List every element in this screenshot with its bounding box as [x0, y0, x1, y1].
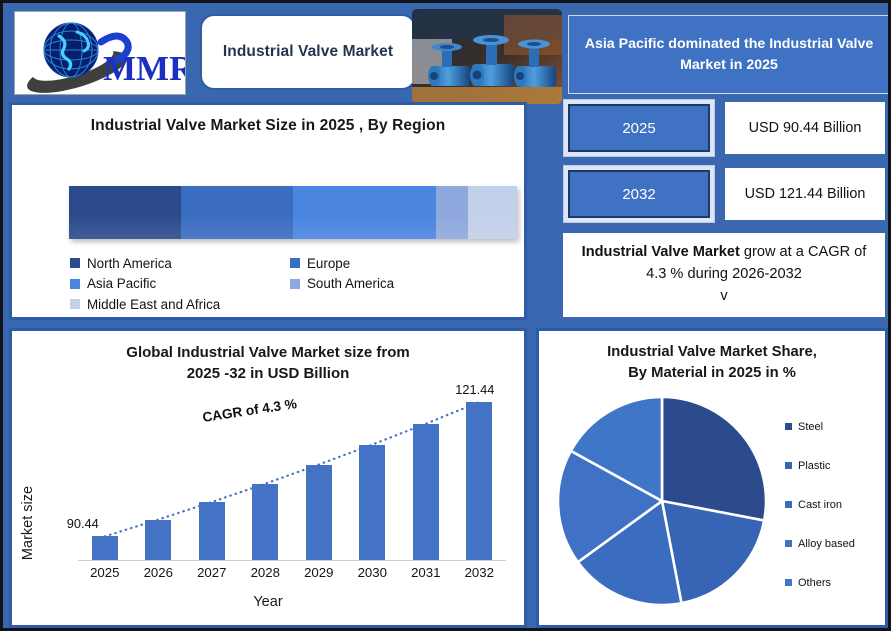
kpi-year-2025: 2025	[622, 120, 655, 137]
pie-chart-title-line2: By Material in 2025 in %	[539, 363, 885, 384]
legend-swatch-icon	[70, 279, 80, 289]
cagr-statement-text: Industrial Valve Market grow at a CAGR o…	[573, 242, 875, 308]
page-title: Industrial Valve Market	[223, 43, 393, 61]
region-legend: North AmericaEuropeAsia PacificSouth Ame…	[70, 253, 510, 315]
region-legend-item: North America	[70, 253, 290, 274]
pie-slice-steel	[662, 397, 766, 520]
kpi-value-2032: USD 121.44 Billion	[745, 186, 866, 202]
pie-chart-title-line1: Industrial Valve Market Share,	[539, 342, 885, 363]
pie-legend-label: Alloy based	[798, 538, 855, 550]
region-legend-item: Europe	[290, 253, 510, 274]
pie-legend-item: Others	[785, 563, 885, 602]
x-tick-2029: 2029	[292, 565, 346, 580]
bar-data-label-2025: 90.44	[67, 516, 99, 531]
bar-2032	[466, 402, 492, 560]
region-legend-item: Asia Pacific	[70, 274, 290, 295]
x-tick-2025: 2025	[78, 565, 132, 580]
region-segment-north-america	[69, 186, 181, 239]
region-legend-label: Asia Pacific	[87, 276, 156, 291]
kpi-value-box-2025: USD 90.44 Billion	[725, 102, 885, 154]
pie-legend-label: Others	[798, 577, 831, 589]
region-segment-europe	[181, 186, 293, 239]
cagr-statement-bold: Industrial Valve Market	[582, 244, 740, 260]
region-segment-south-america	[436, 186, 467, 239]
header: MMR Industrial Valve Market	[8, 7, 887, 99]
region-segment-asia-pacific	[293, 186, 436, 239]
region-legend-label: Europe	[307, 256, 350, 271]
x-tick-2031: 2031	[399, 565, 453, 580]
legend-swatch-icon	[785, 462, 792, 469]
pie-legend-item: Alloy based	[785, 524, 885, 563]
x-tick-2027: 2027	[185, 565, 239, 580]
bar-2030	[359, 445, 385, 560]
x-tick-2030: 2030	[345, 565, 399, 580]
region-chart-title: Industrial Valve Market Size in 2025 , B…	[12, 117, 524, 135]
pie-chart-title: Industrial Valve Market Share, By Materi…	[539, 342, 885, 383]
region-legend-label: North America	[87, 256, 172, 271]
region-legend-label: Middle East and Africa	[87, 297, 220, 312]
poster-title-box: Industrial Valve Market	[200, 14, 416, 90]
x-tick-2026: 2026	[131, 565, 185, 580]
pie-legend-item: Steel	[785, 407, 885, 446]
pie-legend-item: Plastic	[785, 446, 885, 485]
kpi-year-box-2032: 2032	[563, 165, 715, 223]
pie-legend: SteelPlasticCast ironAlloy basedOthers	[785, 407, 885, 602]
legend-swatch-icon	[70, 258, 80, 268]
region-legend-item: Middle East and Africa	[70, 294, 290, 315]
legend-swatch-icon	[785, 579, 792, 586]
pie-legend-label: Steel	[798, 421, 823, 433]
region-segment-middle-east-and-africa	[468, 186, 517, 239]
region-stacked-bar	[69, 186, 517, 239]
svg-text:MMR: MMR	[103, 49, 186, 88]
kpi-block: 2025 USD 90.44 Billion 2032 USD 121.44 B…	[563, 99, 885, 229]
material-pie-chart	[547, 393, 777, 608]
bar-plot-area: Market size 2025202620272028202920302031…	[12, 331, 524, 625]
legend-swatch-icon	[785, 423, 792, 430]
x-axis-line	[78, 560, 506, 561]
cagr-statement-box: Industrial Valve Market grow at a CAGR o…	[563, 233, 885, 317]
y-axis-label: Market size	[20, 463, 36, 583]
bar-2025	[92, 536, 118, 560]
material-share-card: Industrial Valve Market Share, By Materi…	[536, 328, 888, 628]
bar-2028	[252, 484, 278, 560]
kpi-year-box-2025: 2025	[563, 99, 715, 157]
industrial-gate-valves-photo-icon	[412, 9, 562, 104]
bar-2031	[413, 424, 439, 560]
kpi-value-box-2032: USD 121.44 Billion	[725, 168, 885, 220]
pie-legend-label: Cast iron	[798, 499, 842, 511]
valve-product-photo	[412, 9, 562, 104]
mmr-logo: MMR	[14, 11, 186, 95]
infographic-poster: MMR Industrial Valve Market	[0, 0, 891, 631]
region-share-card: Industrial Valve Market Size in 2025 , B…	[9, 102, 527, 320]
legend-swatch-icon	[290, 279, 300, 289]
cagr-stray-char: v	[720, 288, 727, 304]
kpi-year-2032: 2032	[622, 186, 655, 203]
bar-data-label-2032: 121.44	[455, 382, 494, 397]
globe-swoosh-logo-icon: MMR	[15, 12, 186, 95]
bar-2027	[199, 502, 225, 560]
legend-swatch-icon	[785, 501, 792, 508]
market-size-chart-card: Global Industrial Valve Market size from…	[9, 328, 527, 628]
bar-2029	[306, 465, 332, 560]
hero-statement-text: Asia Pacific dominated the Industrial Va…	[579, 34, 879, 75]
bar-2026	[145, 520, 171, 560]
hero-statement-box: Asia Pacific dominated the Industrial Va…	[568, 15, 890, 94]
x-tick-2028: 2028	[238, 565, 292, 580]
legend-swatch-icon	[290, 258, 300, 268]
legend-swatch-icon	[70, 299, 80, 309]
x-tick-2032: 2032	[452, 565, 506, 580]
x-axis-label: Year	[12, 594, 524, 610]
legend-swatch-icon	[785, 540, 792, 547]
pie-legend-item: Cast iron	[785, 485, 885, 524]
region-legend-item: South America	[290, 274, 510, 295]
pie-legend-label: Plastic	[798, 460, 830, 472]
kpi-value-2025: USD 90.44 Billion	[749, 120, 862, 136]
region-legend-label: South America	[307, 276, 394, 291]
